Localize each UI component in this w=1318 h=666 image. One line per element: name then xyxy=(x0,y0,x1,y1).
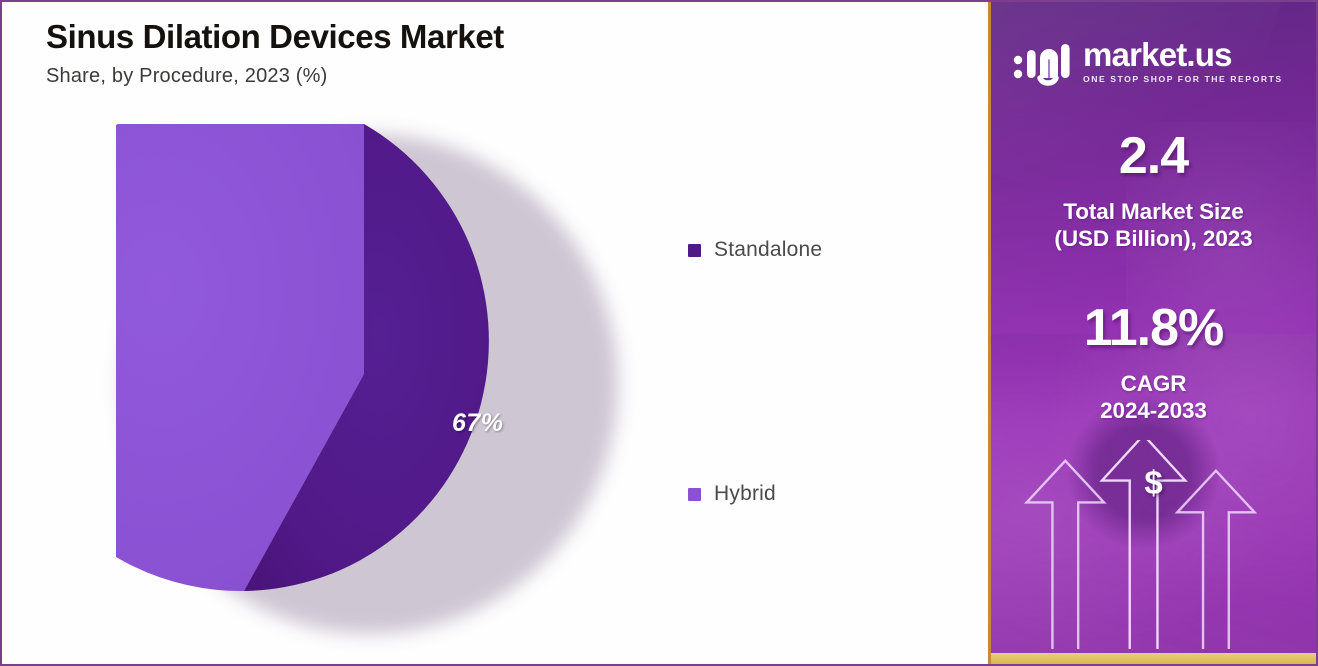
pie-slices xyxy=(116,124,612,624)
bar-chart-logo-icon xyxy=(1013,36,1075,86)
stat-total-market-size: 2.4 Total Market Size (USD Billion), 202… xyxy=(991,130,1316,253)
stat-label-line2: (USD Billion), 2023 xyxy=(991,225,1316,252)
stat-label-line1: CAGR xyxy=(991,370,1316,397)
stat-cagr: 11.8% CAGR 2024-2033 xyxy=(991,302,1316,425)
stat-label: Total Market Size (USD Billion), 2023 xyxy=(991,198,1316,253)
legend-item-label: Hybrid xyxy=(714,482,776,506)
stat-value: 2.4 xyxy=(991,130,1316,182)
legend: Standalone Hybrid xyxy=(688,230,948,514)
legend-swatch-icon xyxy=(688,244,701,257)
bottom-accent-bar xyxy=(991,653,1316,664)
legend-item-label: Standalone xyxy=(714,238,822,262)
logo-tagline: ONE STOP SHOP FOR THE REPORTS xyxy=(1083,74,1283,84)
dollar-icon: $ xyxy=(991,464,1316,502)
page-subtitle: Share, by Procedure, 2023 (%) xyxy=(46,65,746,88)
legend-swatch-icon xyxy=(688,488,701,501)
legend-item-standalone[interactable]: Standalone xyxy=(688,230,948,270)
stat-label-line2: 2024-2033 xyxy=(991,397,1316,424)
stat-value: 11.8% xyxy=(991,302,1316,354)
logo-wordmark: market.us xyxy=(1083,38,1283,71)
pie-slice-value-label: 67% xyxy=(452,409,504,438)
stat-label: CAGR 2024-2033 xyxy=(991,370,1316,425)
logo-text: market.us ONE STOP SHOP FOR THE REPORTS xyxy=(1083,38,1283,84)
infographic-frame: Sinus Dilation Devices Market Share, by … xyxy=(0,0,1318,666)
brand-side-panel: market.us ONE STOP SHOP FOR THE REPORTS … xyxy=(988,2,1316,664)
title-block: Sinus Dilation Devices Market Share, by … xyxy=(46,18,746,88)
brand-logo[interactable]: market.us ONE STOP SHOP FOR THE REPORTS xyxy=(1013,30,1299,92)
legend-item-hybrid[interactable]: Hybrid xyxy=(688,474,948,514)
page-title: Sinus Dilation Devices Market xyxy=(46,18,746,56)
pie-chart: 67% xyxy=(116,124,614,650)
stat-label-line1: Total Market Size xyxy=(991,198,1316,225)
chart-area: Sinus Dilation Devices Market Share, by … xyxy=(2,2,988,664)
